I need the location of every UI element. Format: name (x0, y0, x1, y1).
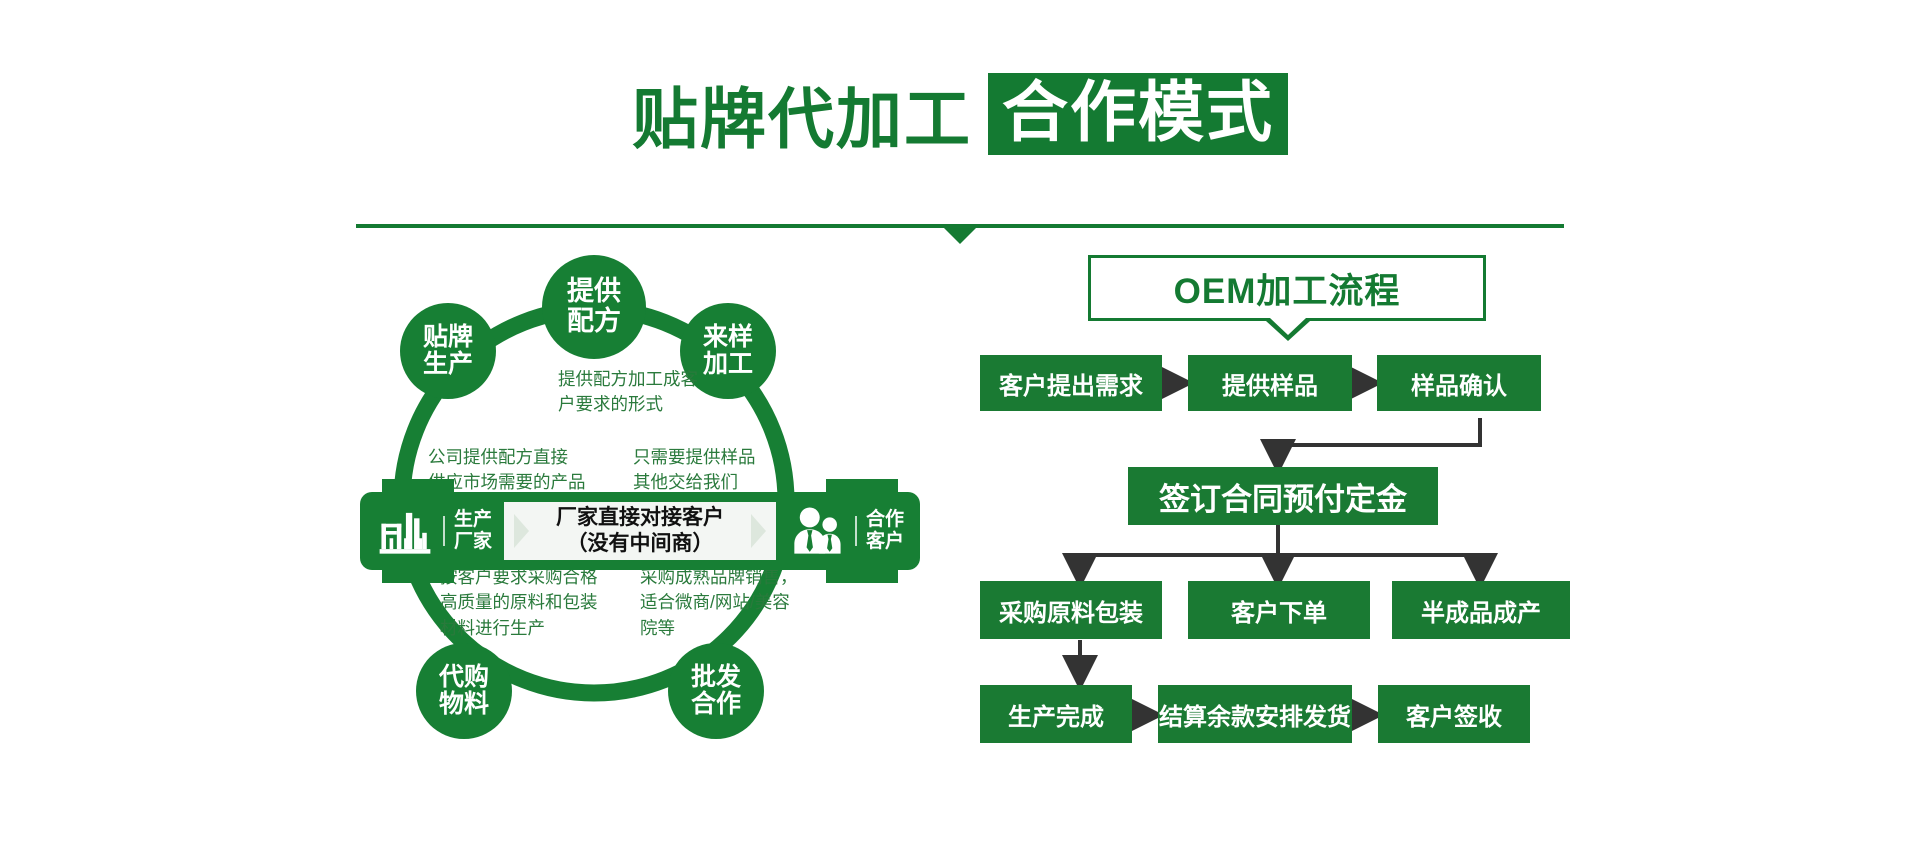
cycle-node-tigong-line1: 提供 (567, 277, 621, 307)
bar-center-message: 厂家直接对接客户 （没有中间商） (504, 502, 776, 560)
cycle-node-daigou-line1: 代购 (439, 664, 489, 692)
direct-supply-bar: 生产 厂家 厂家直接对接客户 （没有中间商） (360, 492, 920, 570)
flow-box-customer-receive-label: 客户签收 (1406, 697, 1502, 732)
cycle-node-daigou[interactable]: 代购 物料 (416, 643, 512, 739)
bar-right-label: 合作 客户 (866, 509, 904, 554)
cycle-caption-pifa-l3: 院等 (640, 616, 798, 641)
cycle-node-daigou-line2: 物料 (439, 691, 489, 719)
bar-left-label-l2: 厂家 (454, 531, 492, 553)
flow-box-production-complete-label: 生产完成 (1008, 697, 1104, 732)
flow-box-settle-and-ship-label: 结算余款安排发货 (1159, 697, 1351, 732)
cycle-node-tiepai[interactable]: 贴牌 生产 (400, 303, 496, 399)
cycle-caption-laiyang: 只需要提供样品 其他交给我们 (633, 445, 756, 496)
flow-box-sign-contract-deposit[interactable]: 签订合同预付定金 (1128, 467, 1438, 525)
cycle-node-tigong-line2: 配方 (567, 307, 621, 337)
poster-root: 贴牌代加工合作模式 提供 配方 来样 加工 贴牌 生产 代购 物料 批发 合作 (0, 0, 1920, 857)
flow-box-customer-request-label: 客户提出需求 (999, 366, 1143, 401)
cycle-node-pifa-line2: 合作 (691, 691, 741, 719)
cycle-node-pifa-line1: 批发 (691, 664, 741, 692)
bar-center-l1: 厂家直接对接客户 (556, 505, 724, 531)
bar-left-divider (443, 516, 445, 546)
cycle-node-laiyang-line1: 来样 (703, 324, 753, 352)
flow-box-sample-confirm-label: 样品确认 (1411, 366, 1507, 401)
bar-tab-bottom-right (826, 569, 898, 583)
flow-box-customer-receive[interactable]: 客户签收 (1378, 685, 1530, 743)
cycle-caption-pifa-l2: 适合微商/网站/美容 (640, 590, 798, 615)
flow-box-customer-order-label: 客户下单 (1231, 593, 1327, 628)
flow-box-customer-request[interactable]: 客户提出需求 (980, 355, 1162, 411)
flowchart-header: OEM加工流程 (1088, 255, 1486, 321)
title-divider-notch-icon (944, 228, 976, 244)
flow-box-customer-order[interactable]: 客户下单 (1188, 581, 1370, 639)
cycle-node-tiepai-line2: 生产 (423, 351, 473, 379)
cycle-caption-daigou-l3: 材料进行生产 (440, 616, 598, 641)
page-title-part2: 合作模式 (988, 73, 1288, 155)
page-title: 贴牌代加工合作模式 (0, 66, 1920, 162)
flow-box-provide-sample-label: 提供样品 (1222, 366, 1318, 401)
cycle-node-laiyang-line2: 加工 (703, 351, 753, 379)
bar-center-text: 厂家直接对接客户 （没有中间商） (556, 505, 724, 556)
flowchart-header-notch-inner-icon (1270, 318, 1306, 335)
chevron-left-icon (514, 514, 529, 548)
cycle-caption-laiyang-l1: 只需要提供样品 (633, 445, 756, 470)
customers-icon (788, 505, 846, 557)
bar-tab-top-left (382, 479, 454, 493)
oem-process-flowchart: OEM加工流程 (980, 255, 1600, 805)
cycle-caption-tigong: 提供配方加工成客 户要求的形式 (558, 367, 698, 418)
bar-left-label-l1: 生产 (454, 509, 492, 531)
cycle-caption-tigong-l2: 户要求的形式 (558, 392, 698, 417)
cycle-caption-tigong-l1: 提供配方加工成客 (558, 367, 698, 392)
cycle-caption-daigou: 按客户要求采购合格 高质量的原料和包装 材料进行生产 (440, 565, 598, 641)
page-title-part1: 贴牌代加工 (632, 82, 972, 156)
cycle-node-tigong[interactable]: 提供 配方 (542, 255, 646, 359)
cycle-caption-pifa: 采购成熟品牌销售， 适合微商/网站/美容 院等 (640, 565, 798, 641)
flow-box-semi-finished[interactable]: 半成品成产 (1392, 581, 1570, 639)
flow-box-provide-sample[interactable]: 提供样品 (1188, 355, 1352, 411)
bar-tab-top-right (826, 479, 898, 493)
bar-tab-bottom-left (382, 569, 454, 583)
bar-left-label: 生产 厂家 (454, 509, 492, 554)
chevron-right-icon (751, 514, 766, 548)
flowchart-header-label: OEM加工流程 (1174, 263, 1401, 314)
cycle-node-tiepai-line1: 贴牌 (423, 324, 473, 352)
flow-box-sample-confirm[interactable]: 样品确认 (1377, 355, 1541, 411)
bar-right-group: 合作 客户 (780, 505, 912, 557)
cycle-caption-tiepai-l1: 公司提供配方直接 (428, 445, 586, 470)
flow-box-purchase-materials[interactable]: 采购原料包装 (980, 581, 1162, 639)
flow-box-sign-contract-deposit-label: 签订合同预付定金 (1159, 474, 1407, 519)
factory-icon (376, 505, 434, 557)
flow-box-semi-finished-label: 半成品成产 (1421, 593, 1541, 628)
bar-center-l2: （没有中间商） (556, 531, 724, 557)
bar-left-group: 生产 厂家 (368, 505, 500, 557)
flow-box-production-complete[interactable]: 生产完成 (980, 685, 1132, 743)
flow-box-settle-and-ship[interactable]: 结算余款安排发货 (1158, 685, 1352, 743)
cycle-node-pifa[interactable]: 批发 合作 (668, 643, 764, 739)
bar-right-divider (855, 516, 857, 546)
cycle-caption-daigou-l2: 高质量的原料和包装 (440, 590, 598, 615)
bar-right-label-l1: 合作 (866, 509, 904, 531)
bar-right-label-l2: 客户 (866, 531, 904, 553)
flow-box-purchase-materials-label: 采购原料包装 (999, 593, 1143, 628)
